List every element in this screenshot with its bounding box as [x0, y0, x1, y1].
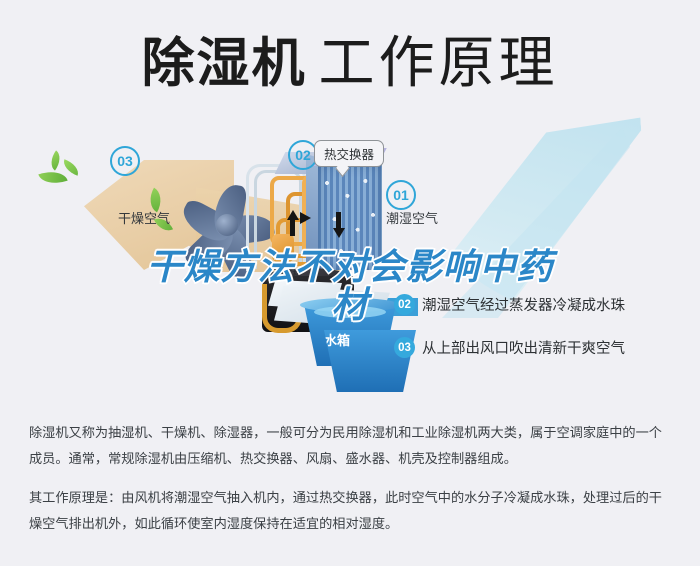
step-item: 02 潮湿空气经过蒸发器冷凝成水珠 — [394, 294, 694, 315]
airflow-arrow-right-icon — [300, 212, 311, 224]
article-body: 除湿机又称为抽湿机、干燥机、除湿器，一般可分为民用除湿机和工业除湿机两大类，属于… — [29, 420, 674, 537]
step-text: 潮湿空气经过蒸发器冷凝成水珠 — [422, 294, 625, 315]
page-title-thin: 工作原理 — [319, 35, 559, 91]
label-compressor: 压缩机 — [270, 266, 303, 282]
step-badge: 03 — [394, 337, 415, 358]
step-text: 从上部出风口吹出清新干爽空气 — [422, 337, 625, 358]
dehumidifier-diagram: 03 02 01 热交换器 干燥空气 潮湿空气 压缩机 水箱 02 潮湿空气经过… — [0, 108, 700, 408]
coil-valve — [272, 234, 294, 262]
airflow-arrow-up-stem — [290, 218, 295, 236]
page-title: 除湿机 工作原理 — [0, 22, 700, 104]
condensation-droplets — [318, 164, 382, 270]
page-root: 除湿机 工作原理 — [0, 0, 700, 566]
step-list: 02 潮湿空气经过蒸发器冷凝成水珠 03 从上部出风口吹出清新干爽空气 — [394, 294, 694, 380]
step-item: 03 从上部出风口吹出清新干爽空气 — [394, 337, 694, 358]
airflow-arrow-down-icon — [333, 228, 345, 238]
callout-badge-03: 03 — [110, 146, 140, 176]
label-humid-air: 潮湿空气 — [386, 208, 438, 227]
leaf-icon — [61, 159, 82, 175]
leaf-icon — [46, 150, 65, 170]
body-paragraph-2: 其工作原理是：由风机将潮湿空气抽入机内，通过热交换器，此时空气中的水分子冷凝成水… — [29, 485, 674, 536]
water-tank-water — [314, 306, 386, 318]
step-badge: 02 — [394, 294, 415, 315]
label-dry-air: 干燥空气 — [118, 208, 170, 227]
callout-badge-01: 01 — [386, 180, 416, 210]
heat-exchanger-callout-bubble: 热交换器 — [314, 140, 384, 167]
body-paragraph-1: 除湿机又称为抽湿机、干燥机、除湿器，一般可分为民用除湿机和工业除湿机两大类，属于… — [29, 420, 674, 471]
page-title-bold: 除湿机 — [142, 37, 307, 90]
fan-hub — [216, 214, 238, 236]
